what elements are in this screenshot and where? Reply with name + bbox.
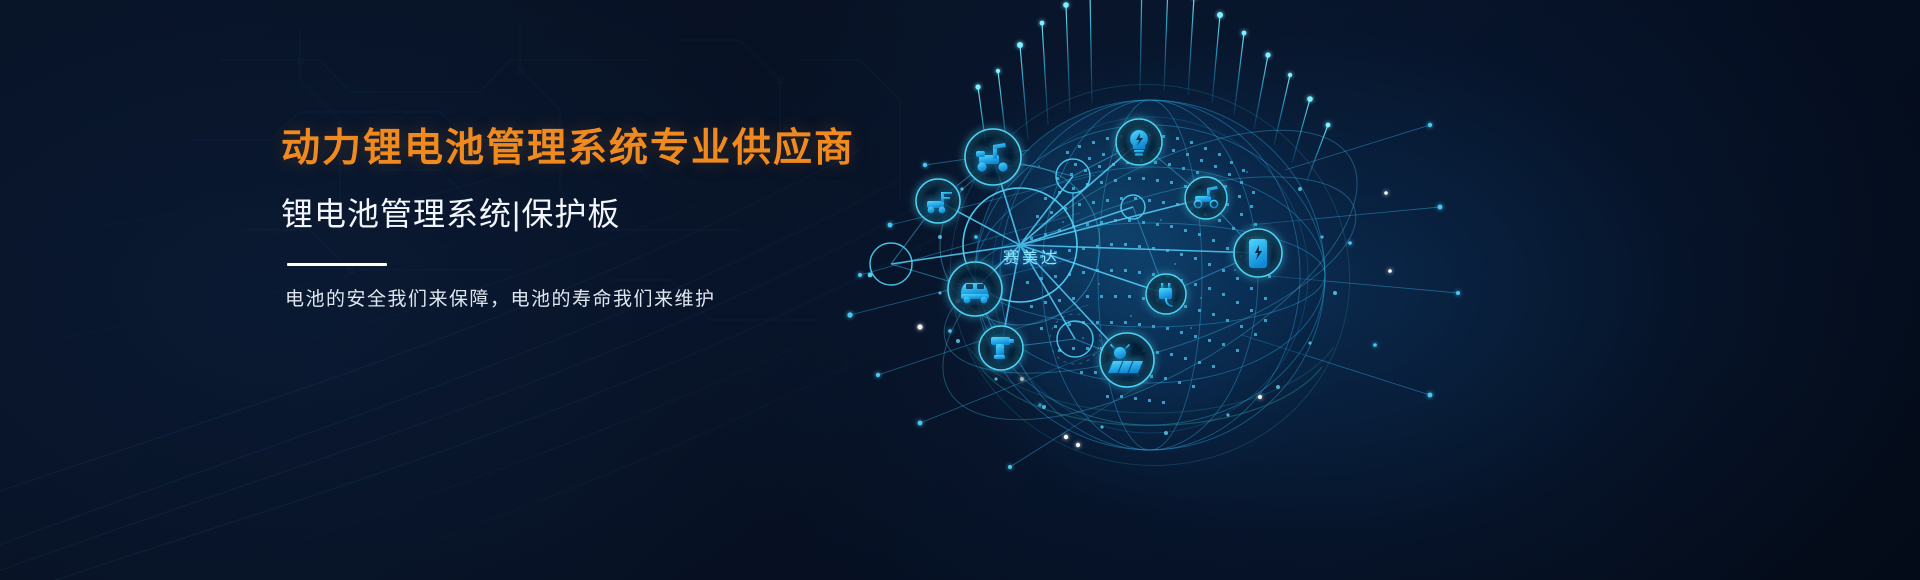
node-car <box>948 262 1002 316</box>
node-forklift <box>916 179 960 223</box>
hero-text-block: 动力锂电池管理系统专业供应商 锂电池管理系统|保护板 电池的安全我们来保障，电池… <box>281 126 841 313</box>
hero-banner: 动力锂电池管理系统专业供应商 锂电池管理系统|保护板 电池的安全我们来保障，电池… <box>0 0 1920 580</box>
node-scooter-top <box>965 129 1021 185</box>
hero-headline: 动力锂电池管理系统专业供应商 <box>281 126 841 172</box>
node-lightbulb <box>1116 119 1162 165</box>
node-solar-panel <box>1100 333 1154 387</box>
node-plug <box>1146 274 1186 314</box>
hero-subtitle: 锂电池管理系统|保护板 <box>281 195 841 233</box>
battery-pack-icon <box>1249 239 1267 268</box>
node-battery <box>1234 229 1282 277</box>
network-globe-graphic <box>830 0 1470 580</box>
hero-divider <box>287 263 387 266</box>
node-scooter-right <box>1185 177 1227 219</box>
node-power-tool <box>979 326 1023 370</box>
hero-tagline: 电池的安全我们来保障，电池的寿命我们来维护 <box>285 288 841 313</box>
